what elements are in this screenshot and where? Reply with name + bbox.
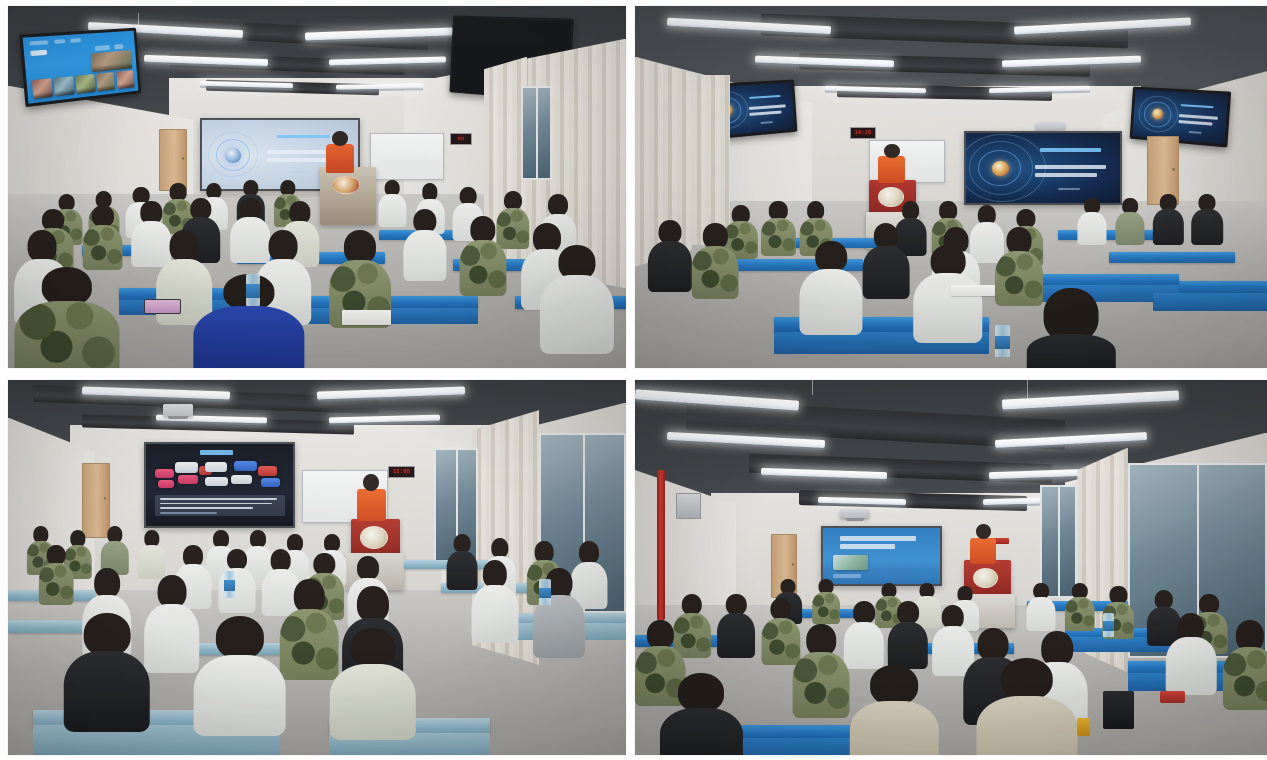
slide-text-panel — [155, 495, 285, 516]
audience-member — [1115, 198, 1144, 245]
water-bottle — [539, 579, 550, 605]
slide-footnote — [288, 171, 310, 173]
presenter-head — [884, 144, 900, 158]
ceiling-light — [200, 81, 293, 88]
audience-member — [1027, 583, 1056, 632]
diagram-node — [205, 477, 229, 486]
audience-member-foreground — [329, 628, 416, 741]
led-clock: 14:26 — [850, 127, 877, 139]
presenter-body — [357, 489, 385, 521]
junction-box — [676, 493, 701, 519]
wall-tv-right[interactable] — [1130, 87, 1232, 148]
audience-member-foreground — [850, 665, 938, 755]
slide-title-line-2 — [267, 158, 330, 162]
tv-thumbnail[interactable] — [96, 73, 115, 92]
led-clock: on — [450, 133, 472, 145]
photo-collage: on — [0, 0, 1267, 760]
audience-member — [1077, 198, 1106, 245]
slide-title-line-2 — [840, 544, 896, 549]
audience-member — [799, 241, 862, 335]
audience-member — [1153, 194, 1183, 245]
slide-footnote — [1058, 188, 1080, 191]
slide-title-line-1 — [1035, 165, 1106, 169]
diagram-node — [155, 469, 174, 479]
projector — [163, 404, 194, 415]
projection-screen[interactable] — [144, 442, 295, 528]
water-bottle — [224, 571, 235, 597]
projection-screen[interactable] — [964, 131, 1122, 205]
classroom-scene-1: on — [8, 6, 626, 368]
whiteboard — [370, 133, 444, 180]
water-bottle — [246, 274, 260, 307]
tv-ui — [23, 31, 138, 104]
audience-member-foreground — [660, 673, 742, 756]
audience-member — [717, 594, 755, 658]
classroom-scene-4 — [635, 380, 1267, 755]
audience-member — [404, 209, 447, 281]
audience-member-foreground — [14, 267, 119, 368]
presenter-body — [878, 156, 906, 183]
audience-member — [539, 245, 613, 354]
classroom-scene-3: 15:08 — [8, 380, 626, 755]
projector — [1036, 122, 1065, 131]
slide-emblem — [225, 148, 241, 163]
podium-emblem — [973, 568, 998, 588]
desk — [1109, 252, 1235, 263]
slide-title — [200, 450, 232, 455]
slide-content — [823, 528, 939, 584]
slide-title-line-1 — [840, 536, 917, 541]
ceiling-light — [329, 57, 447, 66]
audience-member-foreground — [1027, 288, 1115, 368]
projector — [840, 509, 868, 518]
fire-pipe — [657, 470, 665, 620]
presenter-body — [326, 144, 354, 173]
audience-member — [138, 530, 166, 579]
slide-image — [833, 555, 868, 570]
diagram-node — [258, 466, 277, 476]
audience-member — [812, 579, 840, 624]
presenter-body — [970, 538, 997, 564]
door[interactable] — [159, 129, 187, 191]
tv-thumbnail[interactable] — [76, 75, 96, 94]
diagram-node — [231, 475, 252, 484]
ceiling-light — [825, 86, 926, 94]
tv-thumbnail[interactable] — [116, 71, 135, 90]
audience-member — [39, 545, 74, 605]
diagram-node — [234, 461, 256, 471]
desk — [1058, 230, 1159, 239]
projection-screen[interactable] — [821, 526, 941, 586]
slide-content — [966, 133, 1120, 203]
presenter-head — [332, 131, 348, 146]
led-clock: 15:08 — [388, 466, 415, 478]
window — [521, 86, 552, 180]
ceiling-light — [818, 497, 907, 505]
audience-member — [1223, 620, 1267, 710]
backpack — [1103, 691, 1135, 729]
tablet — [144, 299, 181, 314]
ceiling-light — [335, 83, 422, 89]
handout — [342, 310, 391, 324]
diagram-node — [158, 480, 174, 488]
podium-emblem — [360, 526, 388, 549]
slide-title-line-2 — [1035, 173, 1097, 177]
audience-member — [472, 560, 519, 643]
handbag — [1160, 691, 1185, 702]
audience-member — [648, 220, 692, 292]
slide-emblem — [992, 161, 1009, 176]
audience-member — [1166, 613, 1217, 696]
water-bottle — [995, 325, 1010, 358]
ceiling-light — [989, 86, 1090, 94]
audience-member — [459, 216, 506, 296]
tv-thumbnail[interactable] — [54, 77, 75, 97]
audience-member — [1191, 194, 1223, 245]
diagram-node — [261, 478, 280, 487]
panel-top-right[interactable]: 14:26 — [635, 6, 1267, 368]
slide-kicker — [277, 135, 330, 138]
diagram-node — [205, 462, 227, 472]
drink-bottle — [1077, 718, 1090, 737]
window — [1040, 485, 1078, 598]
audience-member — [863, 223, 910, 299]
audience-member — [888, 601, 928, 669]
audience-member — [793, 624, 850, 718]
desk-panel — [1153, 293, 1267, 311]
panel-bottom-left[interactable]: 15:08 — [8, 380, 626, 755]
tv-thumbnail[interactable] — [32, 79, 54, 99]
audience-member — [692, 223, 739, 299]
panel-bottom-right[interactable] — [635, 380, 1267, 755]
water-bottle — [1103, 613, 1114, 637]
slide-caption — [833, 574, 861, 578]
diagram-node — [178, 475, 197, 484]
audience-member — [144, 575, 200, 673]
audience-member — [761, 201, 795, 255]
classroom-scene-2: 14:26 — [635, 6, 1267, 368]
notebook — [951, 285, 995, 296]
audience-member — [82, 205, 123, 270]
slide-kicker — [1040, 148, 1102, 152]
slide-content — [146, 444, 293, 526]
diagram-node — [175, 462, 197, 473]
audience-member-foreground — [976, 658, 1077, 756]
audience-member — [1065, 583, 1095, 632]
audience-member-foreground — [193, 616, 286, 736]
audience-member — [379, 180, 406, 227]
audience-member-foreground — [64, 613, 151, 733]
light-wire — [812, 380, 813, 395]
panel-top-left[interactable]: on — [8, 6, 626, 368]
